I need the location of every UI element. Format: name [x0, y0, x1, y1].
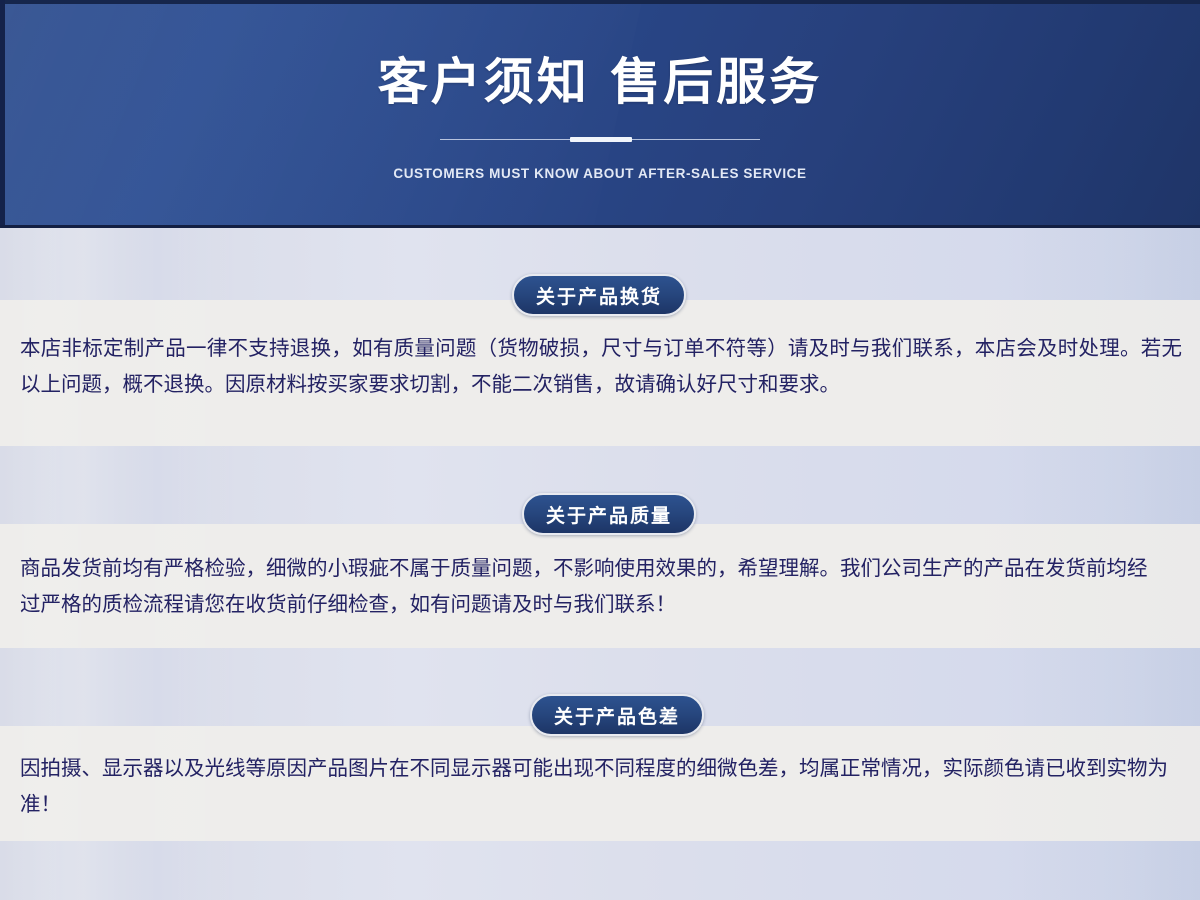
header-content: 客户须知 售后服务 CUSTOMERS MUST KNOW ABOUT AFTE… — [0, 0, 1200, 228]
divider-center-mark — [570, 137, 632, 142]
section-text-quality: 商品发货前均有严格检验，细微的小瑕疵不属于质量问题，不影响使用效果的，希望理解。… — [20, 550, 1160, 622]
section-badge-quality: 关于产品质量 — [522, 493, 696, 535]
section-text-exchange: 本店非标定制产品一律不支持退换，如有质量问题（货物破损，尺寸与订单不符等）请及时… — [20, 330, 1182, 402]
section-text-color-difference: 因拍摄、显示器以及光线等原因产品图片在不同显示器可能出现不同程度的细微色差，均属… — [20, 750, 1170, 822]
title-divider — [440, 136, 760, 144]
after-sales-notice-page: 客户须知 售后服务 CUSTOMERS MUST KNOW ABOUT AFTE… — [0, 0, 1200, 900]
section-badge-exchange: 关于产品换货 — [512, 274, 686, 316]
notice-body: 关于产品换货 本店非标定制产品一律不支持退换，如有质量问题（货物破损，尺寸与订单… — [0, 228, 1200, 900]
page-title: 客户须知 售后服务 — [378, 54, 822, 112]
page-header-banner: 客户须知 售后服务 CUSTOMERS MUST KNOW ABOUT AFTE… — [0, 0, 1200, 228]
page-subtitle: CUSTOMERS MUST KNOW ABOUT AFTER-SALES SE… — [393, 166, 806, 181]
decorative-band-4 — [0, 841, 1200, 900]
section-badge-color-difference: 关于产品色差 — [530, 694, 704, 736]
